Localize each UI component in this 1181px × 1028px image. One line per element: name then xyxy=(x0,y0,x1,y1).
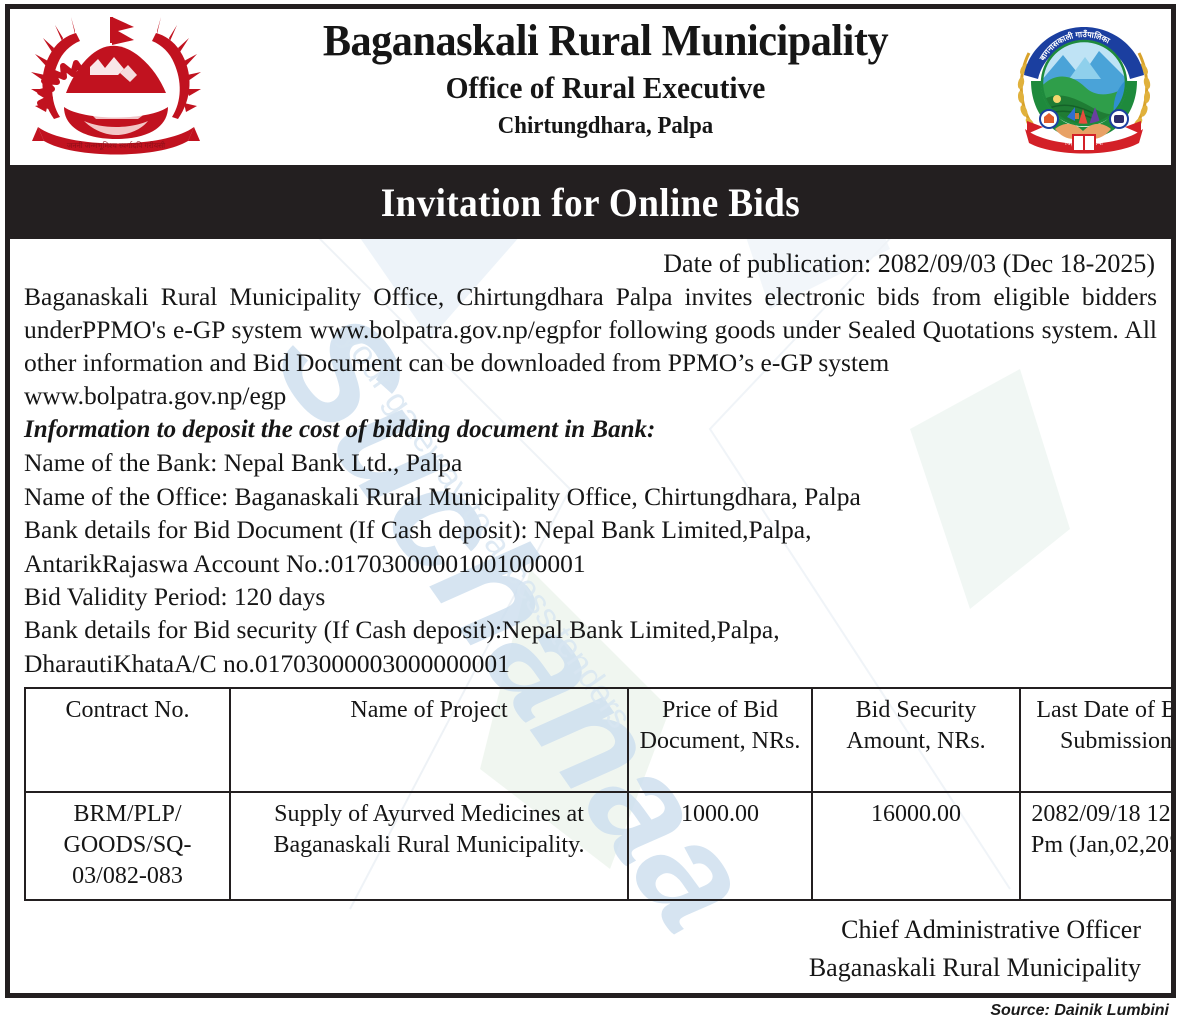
banner-title: Invitation for Online Bids xyxy=(381,179,800,226)
intro-paragraph: Baganaskali Rural Municipality Office, C… xyxy=(24,281,1157,413)
cell-bid-price: 1000.00 xyxy=(628,792,812,900)
office-name: Office of Rural Executive xyxy=(230,69,981,108)
notice-body: Date of publication: 2082/09/03 (Dec 18-… xyxy=(10,239,1171,986)
signatory-designation: Chief Administrative Officer xyxy=(24,911,1141,949)
svg-text:जननी जन्मभूमिश्च स्वर्गादपि गर: जननी जन्मभूमिश्च स्वर्गादपि गरीयसी xyxy=(67,141,166,151)
cell-last-date: 2082/09/18 12.00 Pm (Jan,02,2026) xyxy=(1020,792,1176,900)
table-row: BRM/PLP/ GOODS/SQ-03/082-083 Supply of A… xyxy=(25,792,1176,900)
column-header-last-date: Last Date of Bid Submission xyxy=(1020,688,1176,792)
signature-block: Chief Administrative Officer Baganaskali… xyxy=(24,901,1157,986)
column-header-project-name: Name of Project xyxy=(230,688,628,792)
intro-text: Baganaskali Rural Municipality Office, C… xyxy=(24,282,1157,377)
publication-date: Date of publication: 2082/09/03 (Dec 18-… xyxy=(24,247,1157,280)
nepal-emblem-icon: जननी जन्मभूमिश्च स्वर्गादपि गरीयसी xyxy=(28,15,204,161)
bank-line: Name of the Office: Baganaskali Rural Mu… xyxy=(24,480,1157,513)
signatory-organization: Baganaskali Rural Municipality xyxy=(24,949,1141,987)
bid-details-table: Contract No. Name of Project Price of Bi… xyxy=(24,687,1176,901)
bank-info-heading: Information to deposit the cost of biddi… xyxy=(24,414,1157,447)
cell-contract-no: BRM/PLP/ GOODS/SQ-03/082-083 xyxy=(25,792,230,900)
title-banner: Invitation for Online Bids xyxy=(10,165,1171,239)
masthead-text-block: Baganaskali Rural Municipality Office of… xyxy=(210,17,1001,141)
intro-last-line: www.bolpatra.gov.np/egp xyxy=(24,380,1157,413)
bank-info-lines: Name of the Bank: Nepal Bank Ltd., Palpa… xyxy=(24,446,1157,680)
bank-line: Bid Validity Period: 120 days xyxy=(24,580,1157,613)
bank-line: Name of the Bank: Nepal Bank Ltd., Palpa xyxy=(24,446,1157,479)
organization-name: Baganaskali Rural Municipality xyxy=(226,17,985,65)
bank-line: Bank details for Bid security (If Cash d… xyxy=(24,613,1157,646)
column-header-contract-no: Contract No. xyxy=(25,688,230,792)
masthead: जननी जन्मभूमिश्च स्वर्गादपि गरीयसी Bagan… xyxy=(10,9,1171,165)
table-header-row: Contract No. Name of Project Price of Bi… xyxy=(25,688,1176,792)
column-header-bid-price: Price of Bid Document, NRs. xyxy=(628,688,812,792)
cell-project-name: Supply of Ayurved Medicines at Baganaska… xyxy=(230,792,628,900)
bank-line: AntarikRajaswa Account No.:0170300000100… xyxy=(24,547,1157,580)
cell-bid-security: 16000.00 xyxy=(812,792,1020,900)
bank-line: Bank details for Bid Document (If Cash d… xyxy=(24,513,1157,546)
column-header-bid-security: Bid Security Amount, NRs. xyxy=(812,688,1020,792)
advertisement-frame: Suchanaa your gateway to access tenders xyxy=(5,4,1176,998)
municipality-logo-icon: बागनासकाली गाउँपालिका xyxy=(1011,17,1157,157)
bank-line: DharautiKhataA/C no.01703000003000000001 xyxy=(24,647,1157,680)
source-credit: Source: Dainik Lumbini xyxy=(990,1002,1169,1020)
office-location: Chirtungdhara, Palpa xyxy=(230,111,981,141)
